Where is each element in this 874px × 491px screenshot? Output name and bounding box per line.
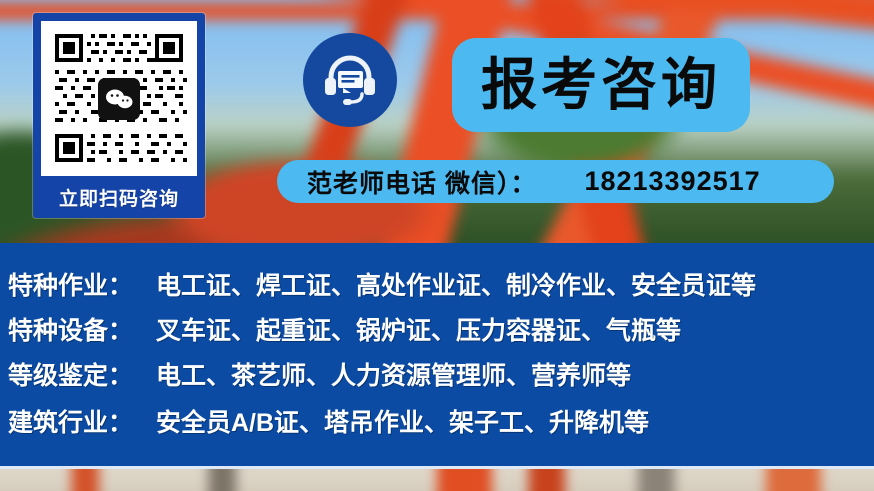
info-row-label: 特种作业： <box>8 266 156 302</box>
phone-label: 范老师电话 微信）： <box>307 164 536 200</box>
info-row-value: 叉车证、起重证、锅炉证、压力容器证、气瓶等 <box>156 311 681 347</box>
qr-code-image[interactable] <box>41 21 197 176</box>
footer-photo-blurred <box>0 469 874 491</box>
qr-caption: 立即扫码咨询 <box>59 176 179 218</box>
info-row: 特种设备： 叉车证、起重证、锅炉证、压力容器证、气瓶等 <box>0 306 874 352</box>
info-row-value: 安全员A/B证、塔吊作业、架子工、升降机等 <box>156 403 649 439</box>
wechat-icon <box>98 78 140 120</box>
footer-photo-strip <box>0 469 874 491</box>
info-row-value: 电工、茶艺师、人力资源管理师、营养师等 <box>156 356 631 392</box>
headset-glyph <box>321 51 379 109</box>
info-row-label: 建筑行业： <box>8 403 156 439</box>
wechat-bubbles-glyph <box>104 87 134 111</box>
info-row-label: 特种设备： <box>8 311 156 347</box>
phone-number[interactable]: 18213392517 <box>584 166 760 197</box>
headset-chat-icon <box>303 33 397 127</box>
info-row: 等级鉴定： 电工、茶艺师、人力资源管理师、营养师等 <box>0 351 874 397</box>
info-row: 建筑行业： 安全员A/B证、塔吊作业、架子工、升降机等 <box>0 398 874 444</box>
promo-poster: 立即扫码咨询 报考咨询 范老师电话 微信）： 18213392517 特种作业：… <box>0 0 874 491</box>
course-info-block: 特种作业： 电工证、焊工证、高处作业证、制冷作业、安全员证等 特种设备： 叉车证… <box>0 243 874 466</box>
qr-code-card[interactable]: 立即扫码咨询 <box>33 13 205 218</box>
phone-pill[interactable]: 范老师电话 微信）： 18213392517 <box>277 160 834 203</box>
info-row: 特种作业： 电工证、焊工证、高处作业证、制冷作业、安全员证等 <box>0 261 874 307</box>
title-text: 报考咨询 <box>481 57 721 113</box>
title-pill: 报考咨询 <box>452 38 750 132</box>
info-row-value: 电工证、焊工证、高处作业证、制冷作业、安全员证等 <box>156 266 756 302</box>
info-row-label: 等级鉴定： <box>8 356 156 392</box>
